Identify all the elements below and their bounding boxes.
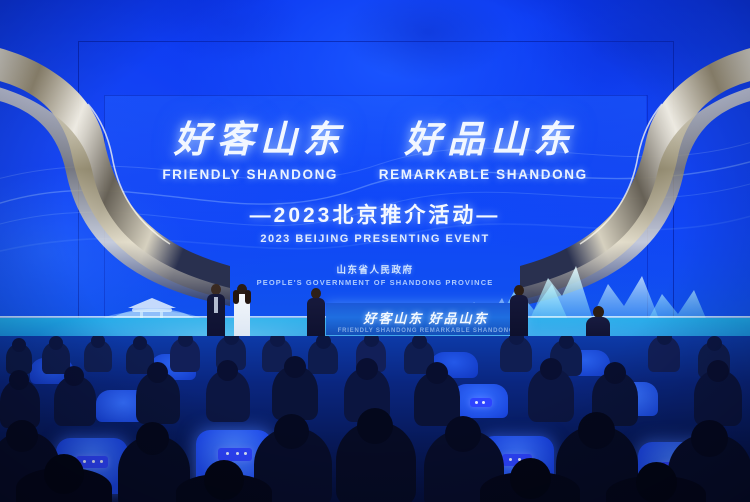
title-en-right: REMARKABLE SHANDONG [379,167,588,182]
audience-head [44,454,84,494]
audience-head [49,336,63,350]
audience-head [133,336,147,350]
audience-head [204,460,244,500]
event-photo-scene: 好客山东 好品山东 FRIENDLY SHANDONG REMARKABLE S… [0,0,750,502]
chair-logo-plate [470,398,492,407]
podium-banner-cn: 好客山东 好品山东 [326,308,526,327]
title-cn-right: 好品山东 [404,118,576,164]
audience-head [636,462,677,502]
audience-area [0,336,750,502]
podium-banner: 好客山东 好品山东 FRIENDLY SHANDONG REMARKABLE S… [326,303,526,335]
main-title-en: FRIENDLY SHANDONG REMARKABLE SHANDONG [0,167,750,182]
audience-head [426,362,448,384]
title-en-left: FRIENDLY SHANDONG [162,167,338,182]
audience-head [510,458,551,499]
title-cn-left: 好客山东 [174,118,346,164]
organizer-en: PEOPLE'S GOVERNMENT OF SHANDONG PROVINCE [0,278,750,287]
audience-head [64,366,84,386]
audience-head [604,362,626,384]
audience-head [6,420,38,452]
audience-head [356,358,378,380]
audience-head [136,422,169,455]
audience-head [357,408,393,444]
audience-head [274,414,309,449]
podium-banner-en: FRIENDLY SHANDONG REMARKABLE SHANDONG [326,328,526,334]
organizer-cn: 山东省人民政府 [0,262,750,276]
audience-head [12,338,26,352]
audience-head [707,336,722,351]
organizer-block: 山东省人民政府 PEOPLE'S GOVERNMENT OF SHANDONG … [0,262,750,287]
main-title-cn: 好客山东 好品山东 [0,118,750,164]
subtitle-cn: —2023北京推介活动— [0,199,750,229]
audience-head [540,358,562,380]
screen-title-block: 好客山东 好品山东 FRIENDLY SHANDONG REMARKABLE S… [0,118,750,245]
audience-head [217,360,238,381]
audience-head [9,370,29,390]
audience-head [691,420,728,457]
audience-head [284,356,306,378]
audience-head [445,416,481,452]
audience-head [707,360,729,382]
audience-head [578,412,615,449]
audience-head [147,362,168,383]
